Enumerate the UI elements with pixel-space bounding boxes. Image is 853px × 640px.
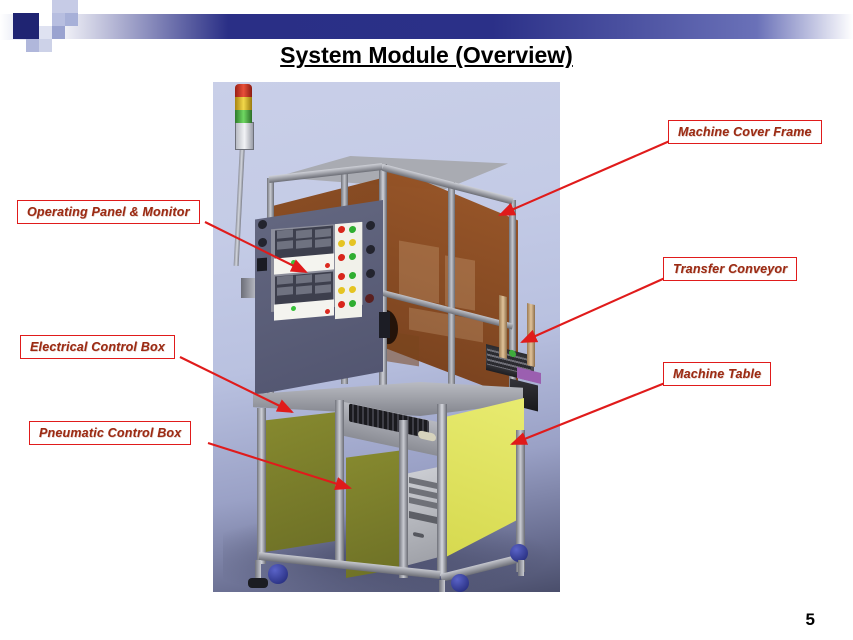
digital-readout-cell-1b	[296, 229, 312, 238]
page-number: 5	[806, 610, 815, 630]
digital-readout-cell-2b	[296, 274, 312, 283]
signal-tower-pole	[234, 144, 245, 266]
signal-tower-base	[235, 122, 254, 150]
callout-operating-panel-monitor[interactable]: Operating Panel & Monitor	[17, 200, 200, 224]
base-frame-post-mid-2	[399, 420, 408, 578]
digital-readout-cell-2e	[296, 285, 312, 294]
digital-readout-cell-1c	[315, 228, 331, 237]
signal-tower-light-red	[235, 84, 252, 97]
caster-front-right	[451, 574, 469, 592]
caster-front-left	[268, 564, 288, 584]
digital-readout-cell-2f	[315, 284, 331, 293]
electrical-control-box-door[interactable]	[265, 412, 337, 552]
motif-square-mid-4	[65, 13, 78, 26]
callout-pneumatic-control-box[interactable]: Pneumatic Control Box	[29, 421, 191, 445]
digital-readout-cell-2d	[277, 286, 293, 295]
header-accent-bar	[52, 14, 853, 39]
conveyor-rail-a	[499, 295, 507, 359]
pneumatic-control-box-door[interactable]	[346, 450, 404, 578]
internal-machinery-a	[399, 240, 439, 303]
digital-readout-cell-1d	[277, 240, 293, 249]
panel-hinge	[379, 312, 390, 338]
motif-square-mid-8	[52, 26, 65, 39]
digital-readout-cell-1f	[315, 238, 331, 247]
panel-side-bracket	[241, 278, 255, 298]
callout-machine-cover-frame[interactable]: Machine Cover Frame	[668, 120, 822, 144]
emergency-stop-button[interactable]	[257, 258, 267, 272]
motif-square-dark	[13, 13, 39, 39]
callout-electrical-control-box[interactable]: Electrical Control Box	[20, 335, 175, 359]
callout-machine-table[interactable]: Machine Table	[663, 362, 771, 386]
base-frame-post-corner	[437, 404, 447, 576]
signal-tower-light-amber	[235, 96, 252, 110]
system-module-cad-render	[213, 82, 560, 592]
callout-transfer-conveyor[interactable]: Transfer Conveyor	[663, 257, 797, 281]
digital-readout-cell-2a	[277, 275, 293, 284]
page-title: System Module (Overview)	[0, 42, 853, 69]
motif-square-mid-5	[39, 26, 52, 39]
digital-readout-cell-1a	[277, 229, 293, 238]
digital-readout-cell-2c	[315, 273, 331, 282]
base-frame-post-mid-1	[335, 400, 344, 564]
leveling-foot-pad-front-left	[248, 578, 268, 588]
cover-frame-post-right-mid	[448, 182, 455, 392]
leveling-foot-front-right	[439, 580, 445, 592]
leveling-foot-rear-right	[518, 560, 524, 576]
conveyor-rail-b	[527, 303, 535, 367]
signal-tower-light-green	[235, 109, 252, 123]
base-frame-post-left	[257, 408, 266, 564]
digital-readout-cell-1e	[296, 239, 312, 248]
